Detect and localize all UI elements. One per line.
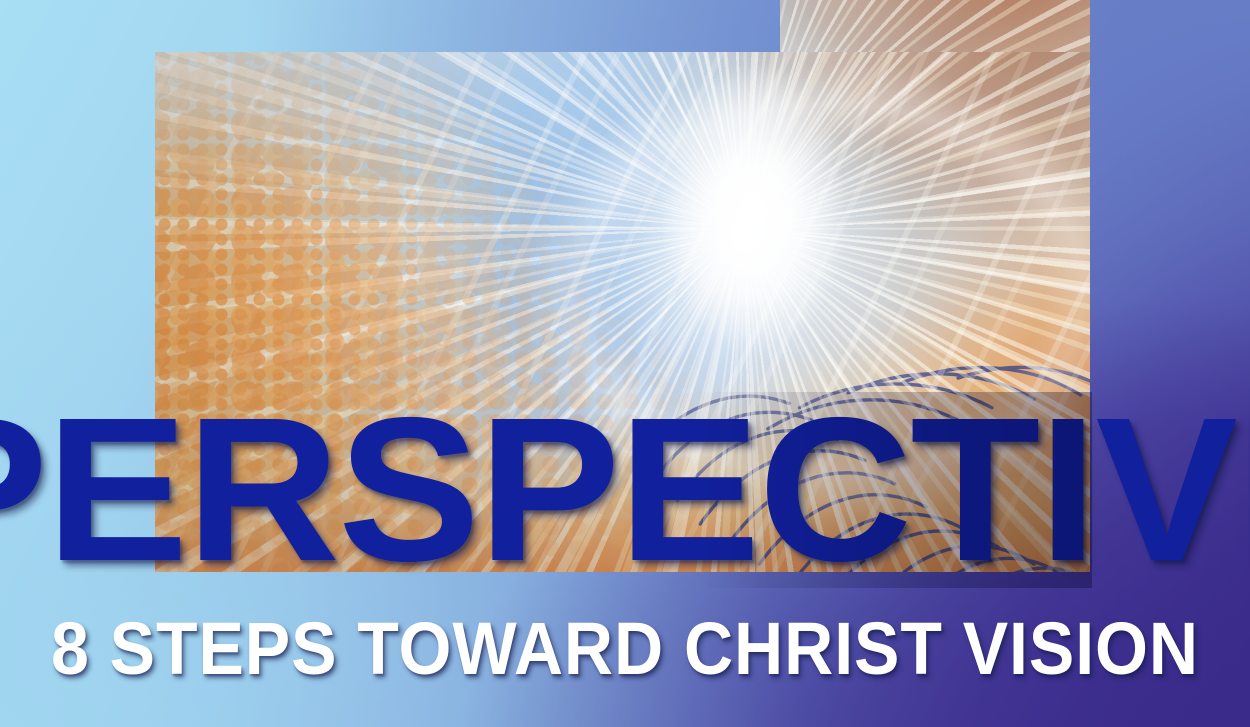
page-subtitle: 8 STEPS TOWARD CHRIST VISION	[50, 612, 1200, 686]
poster-canvas: PERSPECTIVE 8 STEPS TOWARD CHRIST VISION	[0, 0, 1250, 727]
page-title: PERSPECTIVE	[152, 392, 1130, 588]
